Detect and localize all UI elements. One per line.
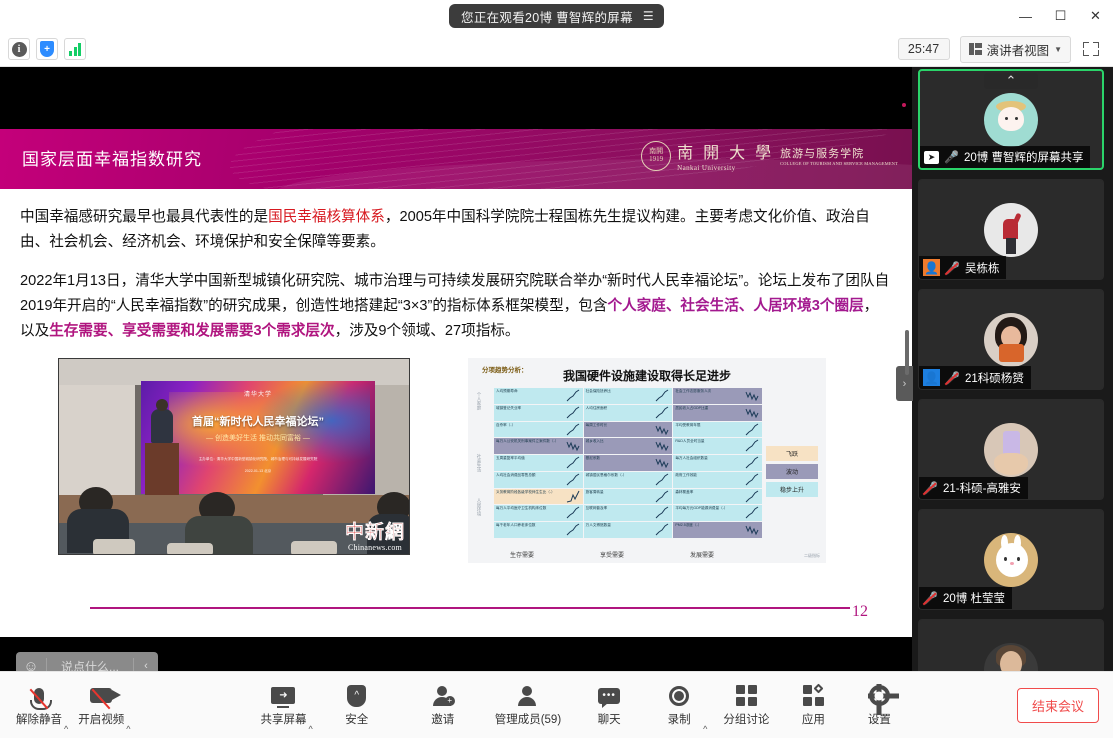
chart-cell: 人均社会消费品零售总额 [494,472,583,488]
forum-photo: 清华大学 首届“新时代人民幸福论坛” — 创造美好生活 推动共同富裕 — 主办单… [58,358,410,555]
paragraph-2-highlight-circles: 个人家庭、社会生活、人居环境3个圈层 [607,298,863,314]
maximize-button[interactable]: ☐ [1043,0,1078,32]
avatar [984,643,1038,672]
toolbar-button-security[interactable]: ^ 安全 [335,684,379,727]
watching-screen-label: 您正在观看20博 曹智辉的屏幕 [461,7,633,26]
participant-tile[interactable]: 🎤20博 杜莹莹 [918,509,1104,610]
chart-cell: 自杀率（-） [494,422,583,438]
breakout-rooms-icon [736,684,757,708]
toolbar-label-breakout-rooms: 分组讨论 [723,711,769,727]
chart-cell-label: 社会保险抚养比 [586,389,611,393]
slide-figures: 清华大学 首届“新时代人民幸福论坛” — 创造美好生活 推动共同富裕 — 主办单… [20,358,890,563]
window-controls: — ☐ ✕ [1008,0,1113,32]
chart-x-label-2: 发展需要 [690,550,714,559]
chart-sparkline [566,439,580,452]
toolbar-button-participants[interactable]: 管理成员(59) [495,684,561,727]
forum-screen-line3: 主办单位：清华大学中国新型城镇化研究院、城市治理与可持续发展研究院 [199,457,318,462]
chart-cell: 居民收入占GDP比重 [673,405,762,421]
chart-cell-label: PM2.5浓度（-） [675,523,701,527]
chart-sparkline [566,456,580,469]
paragraph-2: 2022年1月13日，清华大学中国新型城镇化研究院、城市治理与可持续发展研究院联… [20,269,890,344]
chart-cell: 每周工作时长 [584,422,673,438]
mic-on-icon: 🎤 [944,151,959,163]
trend-analysis-chart: 分项趋势分析： 我国硬件设施建设取得长足进步 个人家庭 社会生活 人居环境 人均… [468,358,826,563]
chart-cell-label: 政府工作效能 [675,473,697,477]
chart-sparkline [745,406,759,419]
participant-name: 20博 杜莹莹 [943,590,1005,606]
participant-tile[interactable]: ⌄ [918,619,1104,671]
toolbar-button-start-video[interactable]: 开启视频 [78,684,124,727]
chart-cell: 人均预期寿命 [494,388,583,404]
chart-sparkline [655,490,669,503]
chart-cell: 五周重复率平均值 [494,455,583,471]
toolbar-label-start-video: 开启视频 [78,711,124,727]
chart-sparkline [745,473,759,486]
college-name-cn: 旅游与服务学院 [780,145,898,161]
chart-cell: 社会保险抚养比 [584,388,673,404]
chart-cell-label: 城镇登记失业率 [496,406,521,410]
college-name: 旅游与服务学院 COLLEGE OF TOURISM AND SERVICE M… [780,145,898,166]
chart-cell-label: 平均受教育年限 [675,423,700,427]
toolbar-label-share-screen: 共享屏幕 [260,711,306,727]
meeting-top-toolbar: i + 25:47 演讲者视图 ▼ [0,32,1113,67]
slide-page-number: 12 [852,603,868,621]
toolbar-label-security: 安全 [345,711,368,727]
chart-sparkline [655,439,669,452]
mic-muted-icon: 🎤 [923,482,938,494]
toolbar-label-participants: 管理成员(59) [495,711,561,727]
chart-cell-label: 平均每万元GDP能源消费量（-） [675,506,727,510]
gear-icon [869,684,890,708]
chart-cell-label: 人均预期寿命 [496,389,518,393]
shared-screen-stage[interactable]: 国家层面幸福指数研究 南開1919 南 開 大 學 Nankai Univers… [0,67,912,671]
chart-title: 我国硬件设施建设取得长足进步 [563,367,731,384]
apps-icon [803,684,824,708]
network-stats-icon[interactable] [64,38,86,60]
participant-name: 吴栋栋 [965,260,1000,276]
chart-legend: 飞跃波动稳步上升 [766,446,818,500]
paragraph-1-highlight: 国民幸福核算体系 [268,209,385,225]
chart-cell-label: 万人文博馆数量 [586,523,611,527]
screen-share-icon: ➤ [924,151,939,164]
avatar [984,203,1038,257]
participant-tile[interactable]: ⌃➤🎤20博 曹智辉的屏幕共享 [918,69,1104,170]
chart-cell: PM2.5浓度（-） [673,522,762,538]
chart-cell: 互联网普及率 [584,505,673,521]
chart-cell: 旅客周转量 [584,489,673,505]
watching-screen-banner[interactable]: 您正在观看20博 曹智辉的屏幕 ☰ [449,4,664,28]
forum-screen-title: 首届“新时代人民幸福论坛” [192,413,324,429]
security-shield-icon[interactable]: + [36,38,58,60]
college-name-en: COLLEGE OF TOURISM AND SERVICE MANAGEMEN… [780,161,898,166]
toolbar-right-controls: 25:47 演讲者视图 ▼ [898,36,1105,63]
toolbar-label-invite: 邀请 [431,711,454,727]
chart-row-group-3: 人居环境 [476,498,482,516]
chart-cell: 政府工作效能 [673,472,762,488]
toolbar-button-record[interactable]: 录制 [657,684,701,727]
toolbar-label-record: 录制 [668,711,691,727]
chart-cell-label: 旅客周转量 [586,490,604,494]
chevron-down-icon: ▼ [1054,45,1062,54]
chart-sparkline [745,456,759,469]
close-button[interactable]: ✕ [1078,0,1113,32]
chart-sparkline [655,506,669,519]
toolbar-button-apps[interactable]: 应用 [791,684,835,727]
record-options-chevron-icon[interactable]: ^ [703,724,707,734]
toolbar-button-settings[interactable]: 设置 [857,684,901,727]
slide-header: 国家层面幸福指数研究 南開1919 南 開 大 學 Nankai Univers… [0,129,912,189]
paragraph-2-highlight-needs: 生存需要、享受需要和发展需要3个需求层次 [49,323,334,339]
chart-cell-label: 基尼系数 [586,456,600,460]
paragraph-1-part1: 中国幸福感研究最早也最具代表性的是 [20,209,268,225]
chart-subtitle: 分项趋势分析： [482,364,528,374]
video-off-icon [90,684,112,708]
chart-sparkline [655,406,669,419]
chart-sparkline [655,456,669,469]
chart-sparkline [566,506,580,519]
chart-cell-label: 居民收入占GDP比重 [675,406,708,410]
toolbar-label-chat: 聊天 [598,711,621,727]
chart-sparkline [566,389,580,402]
comment-input[interactable]: 说点什么... [46,658,134,672]
user-avatar-icon: 👤 [923,369,940,386]
chart-sparkline [566,423,580,436]
avatar [984,313,1038,367]
mic-muted-icon: 🎤 [945,372,960,384]
chart-cell: 每万人公安机关刑事案件立案件数（-） [494,438,583,454]
chart-cell: 人均住房面积 [584,405,673,421]
minimize-button[interactable]: — [1008,0,1043,32]
share-options-chevron-icon[interactable]: ^ [308,724,312,734]
invite-user-icon: + [432,684,454,708]
comment-collapse-icon[interactable]: ‹ [134,660,158,671]
record-icon [669,684,689,708]
chart-cell-label: 森林覆盖率 [675,490,693,494]
chart-cell-label: 互联网普及率 [586,506,608,510]
toolbar-button-share-screen[interactable]: ➜ 共享屏幕 [260,684,306,727]
participants-icon [517,684,539,708]
participant-name: 21科硕杨赟 [965,370,1024,386]
participant-tile[interactable]: 👤🎤吴栋栋 [918,179,1104,280]
avatar [984,533,1038,587]
mic-muted-icon: 🎤 [945,262,960,274]
participant-nameplate: 🎤20博 杜莹莹 [919,587,1012,609]
hamburger-icon[interactable]: ☰ [643,10,654,22]
chart-x-label-1: 享受需要 [600,550,624,559]
chart-legend-item-2: 稳步上升 [766,482,818,497]
chart-cell-label: 每千老年人口养老床位数 [496,523,536,527]
chart-sparkline [745,506,759,519]
chevron-up-icon[interactable]: ⌃ [984,73,1038,89]
chart-cell: 每万人平均医疗卫生机构床位数 [494,505,583,521]
share-screen-icon: ➜ [271,684,295,708]
participant-nameplate: ➤🎤20博 曹智辉的屏幕共享 [920,146,1090,168]
chart-cell-label: R&D人员全时当量 [675,439,704,443]
watermark-cn: 中新網 [345,523,405,542]
chart-cell-label: 人均社会消费品零售总额 [496,473,536,477]
chart-cell-label: 社会工作志愿服务人次 [675,389,711,393]
chart-cell: 城镇登记失业率 [494,405,583,421]
gallery-scrollbar[interactable] [905,330,909,375]
chart-sparkline [566,406,580,419]
chart-sparkline [655,473,669,486]
meeting-bottom-toolbar: 解除静音 ^ 开启视频 ^ ➜ 共享屏幕 ^ ^ 安全 + 邀请 [0,671,1113,738]
chart-cell-label: 每万人社会组织数量 [675,456,707,460]
toolbar-button-chat[interactable]: ••• 聊天 [587,684,631,727]
chart-sparkline [745,523,759,536]
chart-sparkline [655,389,669,402]
chart-sparkline [745,423,759,436]
university-seal-icon: 南開1919 [641,141,671,171]
mic-muted-icon [34,684,44,708]
end-meeting-button[interactable]: 结束会议 [1017,688,1099,723]
paragraph-1: 中国幸福感研究最早也最具代表性的是国民幸福核算体系，2005年中国科学院院士程国… [20,205,890,255]
chart-sparkline [566,490,580,503]
chart-cell: 城镇居民恩格尔系数（-） [584,472,673,488]
mic-options-chevron-icon[interactable]: ^ [64,724,68,734]
layout-icon [969,43,982,55]
chart-row-group-1: 个人家庭 [476,392,482,410]
chart-cell: 每万人社会组织数量 [673,455,762,471]
chart-cell-label: 城乡收入比 [586,439,604,443]
chart-cell: 万人文博馆数量 [584,522,673,538]
chart-cell: 社会工作志愿服务人次 [673,388,762,404]
nankai-university-logo: 南開1919 南 開 大 學 Nankai University 旅游与服务学院… [641,139,898,172]
watermark-en: Chinanews.com [345,544,405,552]
toolbar-label-unmute: 解除静音 [16,711,62,727]
chinanews-watermark: 中新網 Chinanews.com [345,523,405,552]
toolbar-label-apps: 应用 [802,711,825,727]
university-name-cn: 南 開 大 學 [677,139,774,163]
chart-legend-item-1: 波动 [766,464,818,479]
participant-tile[interactable]: 👤🎤21科硕杨赟 [918,289,1104,390]
chart-cell: 义务教育阶段各级学校师生生比（-） [494,489,583,505]
chart-sparkline [566,473,580,486]
podium [145,443,179,495]
meeting-timer: 25:47 [898,38,950,60]
info-icon[interactable]: i [8,38,30,60]
chart-cell: 平均每万元GDP能源消费量（-） [673,505,762,521]
recording-dot-icon [902,103,906,107]
view-mode-label: 演讲者视图 [987,40,1050,59]
university-name: 南 開 大 學 Nankai University [677,139,774,172]
avatar [984,93,1038,147]
tsinghua-logo-text: 清华大学 [244,389,272,398]
chart-corner-note: 二级指标 [804,553,820,559]
chart-cell: 城乡收入比 [584,438,673,454]
slide-title: 国家层面幸福指数研究 [22,145,202,170]
chart-cell-label: 五周重复率平均值 [496,456,525,460]
speaker-figure [151,409,173,443]
participant-name: 21-科硕-高雅安 [943,480,1021,496]
video-options-chevron-icon[interactable]: ^ [126,724,130,734]
chart-sparkline [655,423,669,436]
security-shield-icon: ^ [347,684,366,708]
chart-cell: 每千老年人口养老床位数 [494,522,583,538]
university-name-en: Nankai University [677,164,774,172]
participant-tile[interactable]: 🎤21-科硕-高雅安 [918,399,1104,500]
chart-cell-label: 自杀率（-） [496,423,515,427]
participant-nameplate: 👤🎤21科硕杨赟 [919,366,1031,389]
mic-muted-icon: 🎤 [923,592,938,604]
chart-cell: 森林覆盖率 [673,489,762,505]
participant-nameplate: 🎤21-科硕-高雅安 [919,477,1028,499]
chart-cell: R&D人员全时当量 [673,438,762,454]
participant-nameplate: 👤🎤吴栋栋 [919,256,1006,279]
chart-cell-label: 每万人平均医疗卫生机构床位数 [496,506,546,510]
chart-cell-label: 每万人公安机关刑事案件立案件数（-） [496,439,558,443]
fullscreen-icon[interactable] [1081,39,1101,59]
chart-sparkline [655,523,669,536]
presentation-slide: 国家层面幸福指数研究 南開1919 南 開 大 學 Nankai Univers… [0,129,912,637]
chart-sparkline [745,490,759,503]
forum-screen-line4: 2022-01-13 北京 [245,469,272,474]
chart-cell-label: 义务教育阶段各级学校师生生比（-） [496,490,555,494]
chart-cell-grid: 人均预期寿命社会保险抚养比社会工作志愿服务人次城镇登记失业率人均住房面积居民收入… [494,388,762,538]
forum-screen-subtitle: — 创造美好生活 推动共同富裕 — [206,433,310,443]
chart-cell-label: 人均住房面积 [586,406,608,410]
chat-icon: ••• [598,684,620,708]
toolbar-left-icons: i + [8,38,86,60]
emoji-icon[interactable]: ☺ [16,658,46,672]
participant-name: 20博 曹智辉的屏幕共享 [964,149,1084,165]
chart-legend-item-0: 飞跃 [766,446,818,461]
chart-cell: 基尼系数 [584,455,673,471]
chart-cell-label: 城镇居民恩格尔系数（-） [586,473,627,477]
chart-x-label-0: 生存需要 [510,550,534,559]
avatar [984,423,1038,477]
comment-bar[interactable]: ☺ 说点什么... ‹ [16,652,158,671]
toolbar-button-invite[interactable]: + 邀请 [421,684,465,727]
chart-cell: 平均受教育年限 [673,422,762,438]
slide-body: 中国幸福感研究最早也最具代表性的是国民幸福核算体系，2005年中国科学院院士程国… [0,189,912,563]
chart-sparkline [566,523,580,536]
toolbar-button-unmute[interactable]: 解除静音 [16,684,62,727]
chart-cell-label: 每周工作时长 [586,423,608,427]
window-title-bar: 您正在观看20博 曹智辉的屏幕 ☰ — ☐ ✕ [0,0,1113,32]
chart-sparkline [745,439,759,452]
zoom-meeting-window: 您正在观看20博 曹智辉的屏幕 ☰ — ☐ ✕ i + 25:47 演讲者视图 … [0,0,1113,738]
paragraph-2-part3: ，涉及9个领域、27项指标。 [335,323,520,339]
user-avatar-icon: 👤 [923,259,940,276]
chart-sparkline [745,389,759,402]
chart-row-group-2: 社会生活 [476,454,482,472]
toolbar-button-breakout-rooms[interactable]: 分组讨论 [723,684,769,727]
slide-footer-line [90,607,850,609]
participant-gallery[interactable]: ⌃➤🎤20博 曹智辉的屏幕共享👤🎤吴栋栋👤🎤21科硕杨赟🎤21-科硕-高雅安🎤2… [912,67,1113,671]
view-mode-selector[interactable]: 演讲者视图 ▼ [960,36,1071,63]
